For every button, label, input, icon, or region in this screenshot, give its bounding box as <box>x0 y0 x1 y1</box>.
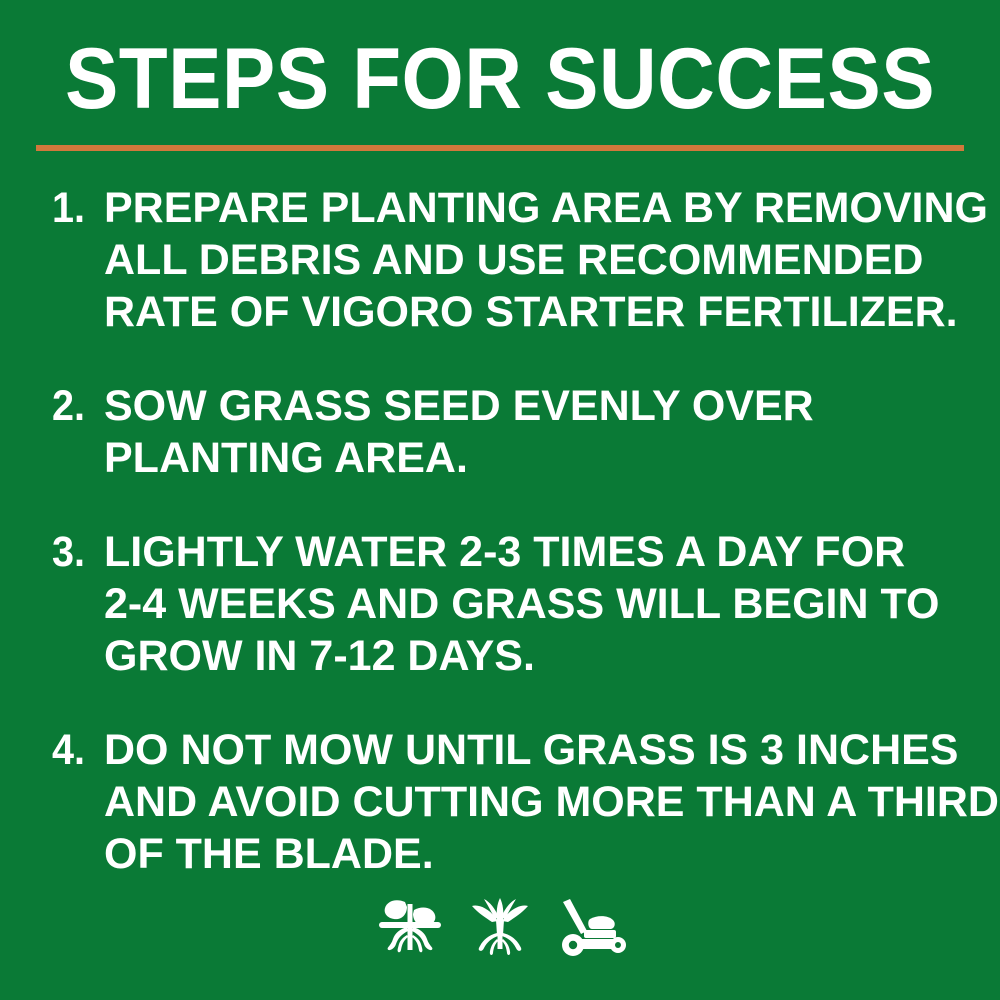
step-number: 3. <box>52 526 85 578</box>
list-item: 4. DO NOT MOW UNTIL GRASS IS 3 INCHES AN… <box>52 724 952 880</box>
title-block: STEPS FOR SUCCESS <box>0 36 1000 122</box>
step-number: 2. <box>52 380 85 432</box>
step-line: LIGHTLY WATER 2-3 TIMES A DAY FOR <box>104 526 952 578</box>
grass-sprout-with-roots-icon <box>464 893 536 959</box>
step-text: LIGHTLY WATER 2-3 TIMES A DAY FOR 2-4 WE… <box>104 526 952 682</box>
poster: STEPS FOR SUCCESS 1. PREPARE PLANTING AR… <box>0 0 1000 1000</box>
step-line: AND AVOID CUTTING MORE THAN A THIRD <box>104 776 952 828</box>
step-line: DO NOT MOW UNTIL GRASS IS 3 INCHES <box>104 724 952 776</box>
title-divider <box>36 145 964 151</box>
lawn-mower-icon <box>554 893 626 959</box>
step-text: DO NOT MOW UNTIL GRASS IS 3 INCHES AND A… <box>104 724 952 880</box>
step-line: SOW GRASS SEED EVENLY OVER <box>104 380 952 432</box>
steps-list: 1. PREPARE PLANTING AREA BY REMOVING ALL… <box>52 182 952 880</box>
step-line: OF THE BLADE. <box>104 828 952 880</box>
page-title: STEPS FOR SUCCESS <box>35 36 965 122</box>
list-item: 3. LIGHTLY WATER 2-3 TIMES A DAY FOR 2-4… <box>52 526 952 682</box>
step-text: PREPARE PLANTING AREA BY REMOVING ALL DE… <box>104 182 952 338</box>
step-number: 4. <box>52 724 85 776</box>
seedling-with-roots-icon <box>374 893 446 959</box>
list-item: 2. SOW GRASS SEED EVENLY OVER PLANTING A… <box>52 380 952 484</box>
step-line: GROW IN 7-12 DAYS. <box>104 630 952 682</box>
step-text: SOW GRASS SEED EVENLY OVER PLANTING AREA… <box>104 380 952 484</box>
step-line: PREPARE PLANTING AREA BY REMOVING <box>104 182 952 234</box>
icon-row <box>0 893 1000 959</box>
step-line: ALL DEBRIS AND USE RECOMMENDED <box>104 234 952 286</box>
list-item: 1. PREPARE PLANTING AREA BY REMOVING ALL… <box>52 182 952 338</box>
step-line: 2-4 WEEKS AND GRASS WILL BEGIN TO <box>104 578 952 630</box>
step-line: RATE OF VIGORO STARTER FERTILIZER. <box>104 286 952 338</box>
step-number: 1. <box>52 182 85 234</box>
step-line: PLANTING AREA. <box>104 432 952 484</box>
